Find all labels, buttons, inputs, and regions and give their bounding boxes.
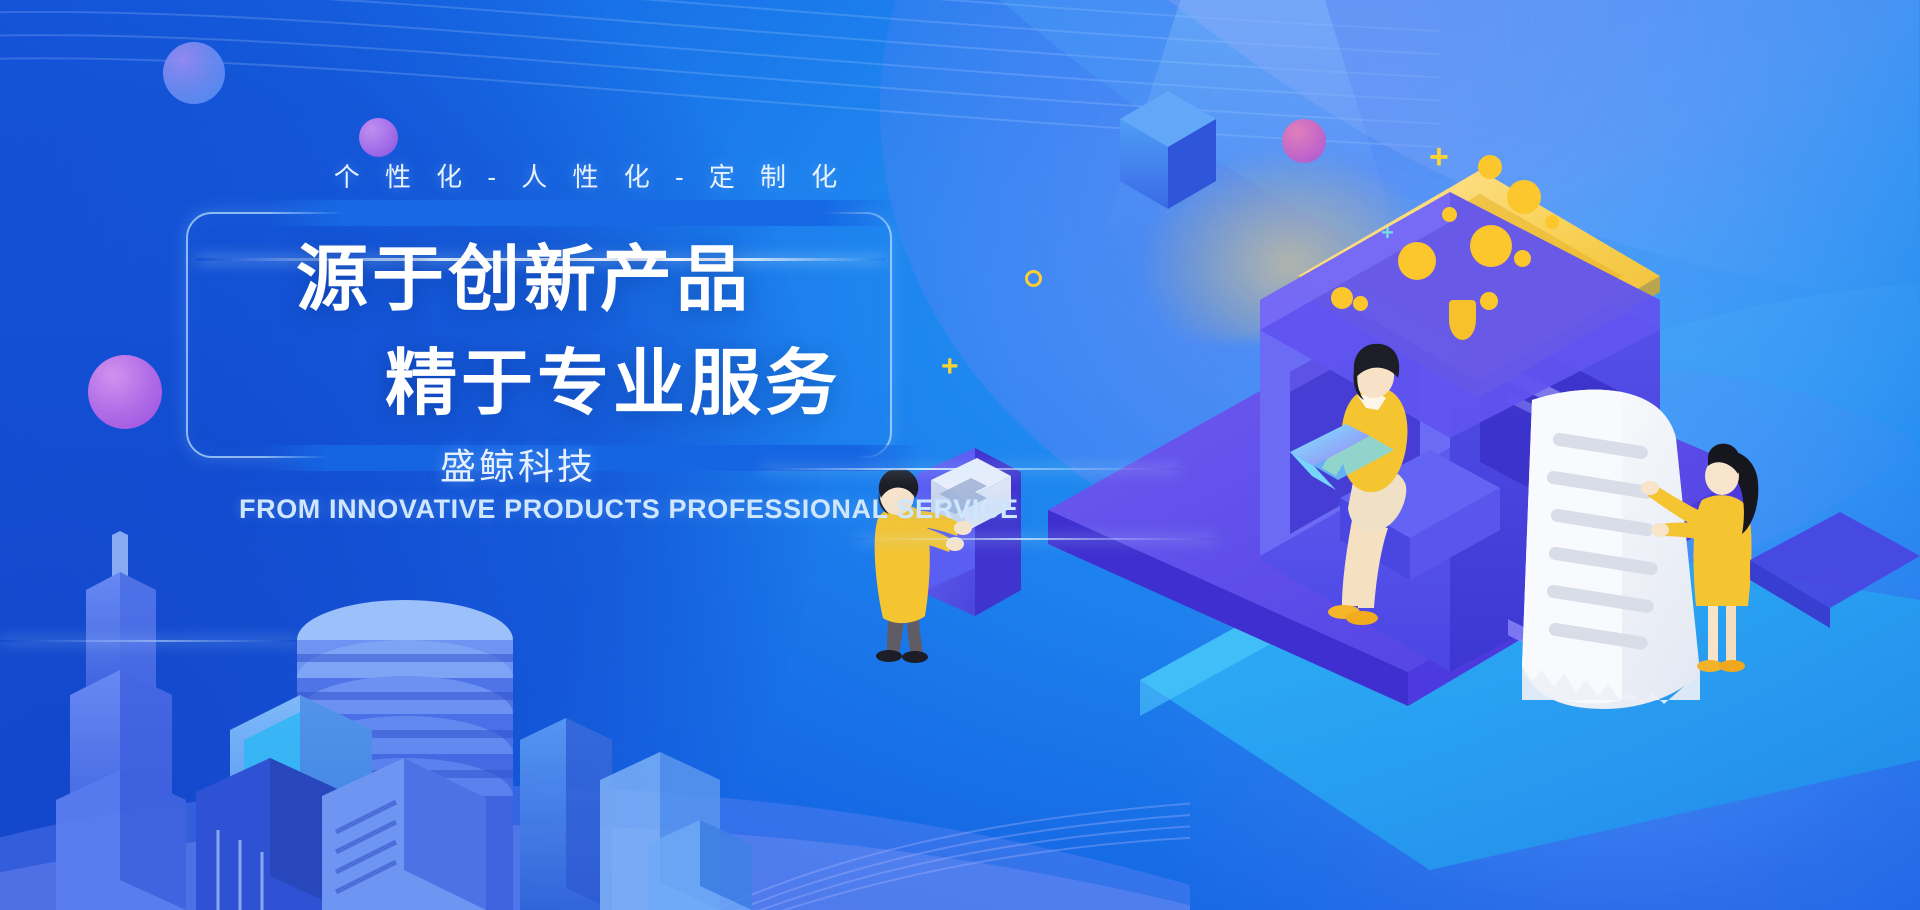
decor-plus-teal: + <box>1381 222 1394 244</box>
decor-plus-gold: + <box>1429 140 1449 174</box>
decor-gold-dot <box>1353 296 1368 311</box>
light-streak <box>0 640 300 642</box>
frame-highlight-top <box>268 200 898 226</box>
decor-dot-pink <box>1282 119 1326 163</box>
headline-line-2: 精于专业服务 <box>385 348 841 420</box>
decor-gold-dot <box>1514 250 1531 267</box>
headline-line-1: 源于创新产品 <box>296 244 752 316</box>
decor-gold-dot <box>1480 292 1498 310</box>
english-subtitle: FROM INNOVATIVE PRODUCTS PROFESSIONAL SE… <box>239 494 1019 525</box>
company-name: 盛鲸科技 <box>440 438 596 490</box>
decor-gold-dot <box>1442 207 1457 222</box>
decor-gold-dot <box>1478 155 1502 179</box>
decor-gold-capsule <box>1449 300 1476 340</box>
decor-gold-dot <box>1398 242 1436 280</box>
tagline-text: 个 性 化 - 人 性 化 - 定 制 化 <box>330 157 850 194</box>
promo-banner: + + + 个 性 化 - 人 性 化 - 定 制 化 源于创新产品 精于专业服… <box>0 0 1920 910</box>
decor-gold-dot <box>1470 225 1512 267</box>
decor-gold-dot <box>1545 215 1559 229</box>
decor-gold-dot <box>1507 180 1541 214</box>
paper-printout <box>1522 390 1700 709</box>
light-streak <box>760 468 1180 470</box>
light-streak <box>856 538 1216 540</box>
decor-gold-dot <box>1331 287 1353 309</box>
isometric-printer-illustration <box>960 0 1920 910</box>
text-content-block: 个 性 化 - 人 性 化 - 定 制 化 源于创新产品 精于专业服务 盛鲸科技… <box>0 0 1100 910</box>
